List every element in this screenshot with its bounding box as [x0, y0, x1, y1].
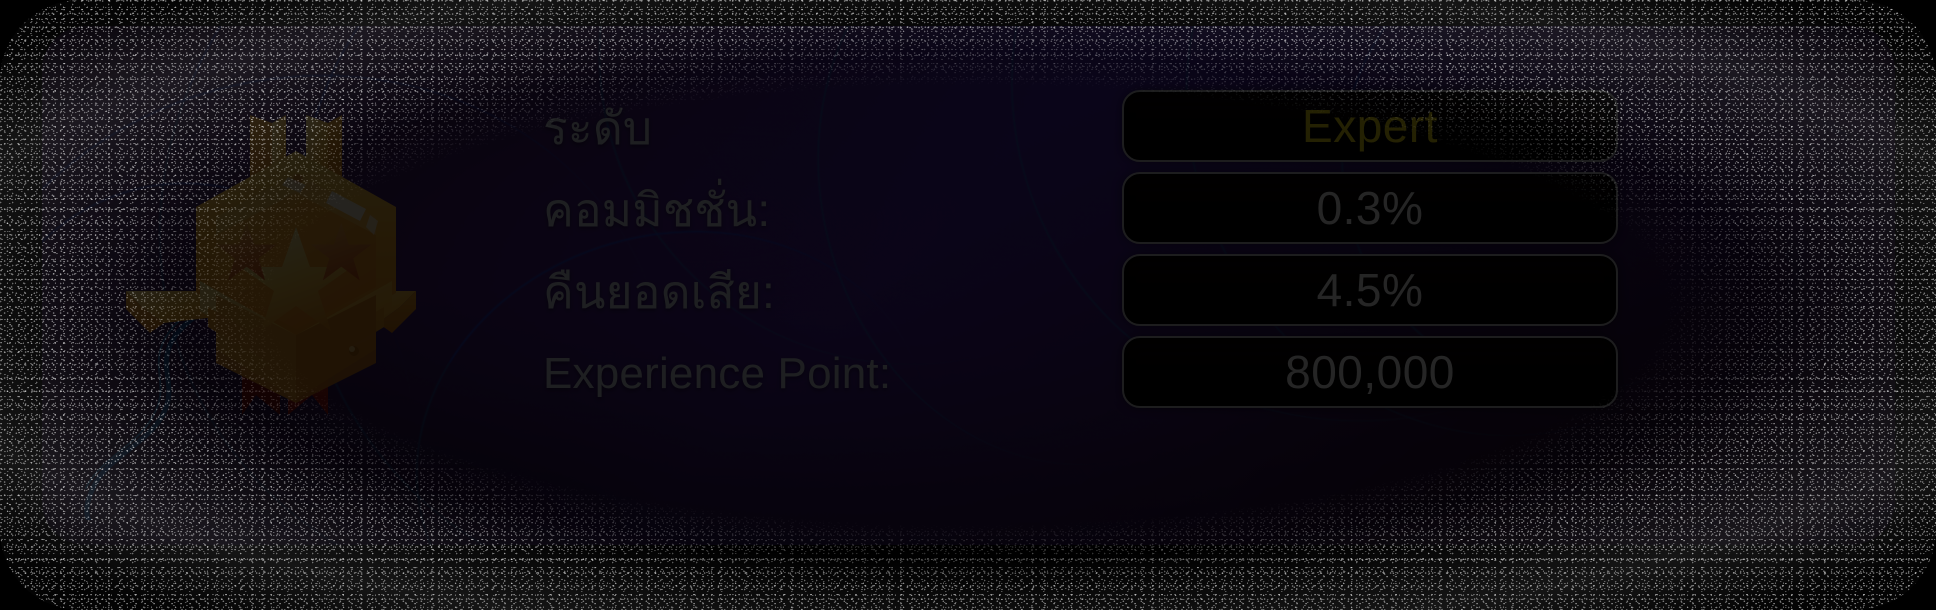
row-label-level: ระดับ: [543, 105, 652, 151]
value-level: Expert: [1302, 103, 1438, 149]
row-label-commission: คอมมิชชั่น:: [543, 187, 770, 233]
value-box-cashback[interactable]: 4.5%: [1122, 254, 1618, 326]
value-experience: 800,000: [1285, 349, 1455, 395]
vip-rank-card: ระดับ Expert คอมมิชชั่น: 0.3% คืนยอดเสีย…: [0, 0, 1936, 610]
value-box-commission[interactable]: 0.3%: [1122, 172, 1618, 244]
row-label-cashback: คืนยอดเสีย:: [543, 269, 775, 315]
row-label-experience: Experience Point:: [543, 352, 891, 396]
value-box-experience[interactable]: 800,000: [1122, 336, 1618, 408]
value-cashback: 4.5%: [1317, 267, 1424, 313]
value-box-level[interactable]: Expert: [1122, 90, 1618, 162]
value-commission: 0.3%: [1317, 185, 1424, 231]
rank-detail-rows: ระดับ Expert คอมมิชชั่น: 0.3% คืนยอดเสีย…: [0, 0, 1936, 610]
